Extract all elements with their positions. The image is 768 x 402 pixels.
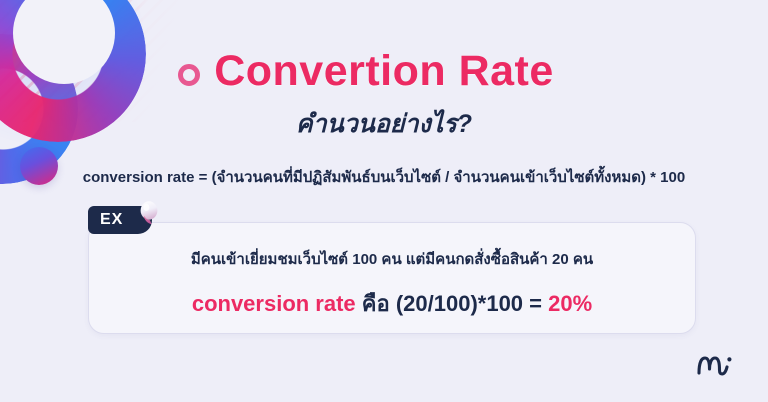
example-statement: มีคนเข้าเยี่ยมชมเว็บไซต์ 100 คน แต่มีคนก… <box>88 247 696 271</box>
result-value: 20% <box>548 291 592 316</box>
mi-logo-icon <box>696 346 740 380</box>
result-expression: คือ (20/100)*100 = <box>356 291 548 316</box>
infographic-canvas: Convertion Rate คำนวนอย่างไร? conversion… <box>0 0 768 402</box>
lightbulb-icon <box>138 200 160 230</box>
result-term: conversion rate <box>192 291 356 316</box>
page-subtitle: คำนวนอย่างไร? <box>0 104 768 144</box>
page-title: Convertion Rate <box>0 47 768 96</box>
example-badge-label: EX <box>100 211 123 229</box>
example-result: conversion rate คือ (20/100)*100 = 20% <box>88 286 696 321</box>
formula-text: conversion rate = (จำนวนคนที่มีปฏิสัมพัน… <box>0 165 768 189</box>
